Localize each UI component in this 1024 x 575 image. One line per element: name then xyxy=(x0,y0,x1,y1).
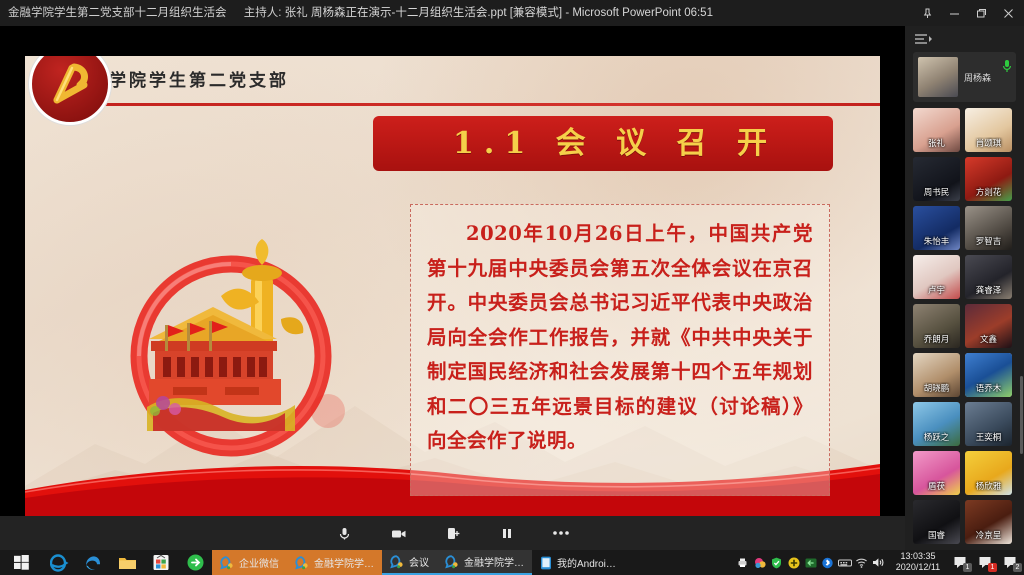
tiananmen-artwork xyxy=(103,221,393,471)
minimize-icon[interactable] xyxy=(941,0,968,26)
hammer-sickle-emblem-icon xyxy=(29,56,111,125)
participant-row: 周书民方剡花 xyxy=(905,157,1024,206)
taskbar-task-label: 金融学院学… xyxy=(314,555,374,570)
phone-icon xyxy=(540,556,552,570)
slide-header: 金融学院学生第二党支部 xyxy=(39,66,866,100)
participant-row: 朱怡丰罗智吉 xyxy=(905,206,1024,255)
file-explorer-icon[interactable] xyxy=(110,550,144,575)
microphone-active-icon xyxy=(1003,60,1011,73)
internet-explorer-icon[interactable] xyxy=(42,550,76,575)
taskbar-task[interactable]: 我的Androi… xyxy=(532,550,624,575)
share-screen-icon[interactable] xyxy=(440,522,466,544)
participant-row: 卢宇龚睿泽 xyxy=(905,255,1024,304)
windows-taskbar: 企业微信金融学院学…会议金融学院学…我的Androi… 13:03:35 202… xyxy=(0,550,1024,575)
participant-name: 胡晓鹏 xyxy=(913,382,960,394)
taskbar-task[interactable]: 金融学院学… xyxy=(287,550,382,575)
microphone-icon[interactable] xyxy=(332,522,358,544)
camera-icon[interactable] xyxy=(386,522,412,544)
wecom-icon xyxy=(220,556,234,570)
participant-card[interactable]: 冷京呈 xyxy=(965,500,1012,544)
participant-row: 国睿冷京呈 xyxy=(905,500,1024,549)
taskbar-task[interactable]: 会议 xyxy=(382,550,437,575)
participant-card[interactable]: 肖颂琪 xyxy=(965,108,1012,152)
participant-row: 杨跃之王奕桐 xyxy=(905,402,1024,451)
participant-card[interactable]: 王奕桐 xyxy=(965,402,1012,446)
taskbar-task-label: 金融学院学… xyxy=(464,554,524,569)
participant-card[interactable]: 文鑫 xyxy=(965,304,1012,348)
participant-name: 乔朗月 xyxy=(913,333,960,345)
participants-sidebar: 周杨森 张礼肖颂琪周书民方剡花朱怡丰罗智吉卢宇龚睿泽乔朗月文鑫胡晓鹏语乔木杨跃之… xyxy=(905,26,1024,550)
slide-body-textbox: 2020年10月26日上午，中国共产党第十九届中央委员会第五次全体会议在京召开。… xyxy=(410,204,830,496)
participant-name: 张礼 xyxy=(913,137,960,149)
participant-name: 文鑫 xyxy=(965,333,1012,345)
window-controls xyxy=(914,0,1022,26)
header-divider xyxy=(39,103,880,106)
browser-green-icon[interactable] xyxy=(178,550,212,575)
participant-card[interactable]: 朱怡丰 xyxy=(913,206,960,250)
participant-card[interactable]: 方剡花 xyxy=(965,157,1012,201)
participant-name: 国睿 xyxy=(913,529,960,541)
taskbar-task-label: 会议 xyxy=(409,554,429,569)
shield-green-icon[interactable] xyxy=(768,550,785,575)
title-bar: 金融学院学生第二党支部十二月组织生活会 主持人: 张礼 周杨森正在演示-十二月组… xyxy=(0,0,1024,26)
participant-name: 方剡花 xyxy=(965,186,1012,198)
participant-name: 冷京呈 xyxy=(965,529,1012,541)
avatar xyxy=(918,57,958,97)
clock-time: 13:03:35 xyxy=(887,551,949,562)
participant-name: 王奕桐 xyxy=(965,431,1012,443)
participant-name: 周书民 xyxy=(913,186,960,198)
slide-title-banner: 1.1 会 议 召 开 xyxy=(373,116,833,171)
participant-card[interactable]: 周书民 xyxy=(913,157,960,201)
pin-icon[interactable] xyxy=(914,0,941,26)
taskbar-task-list[interactable]: 企业微信金融学院学…会议金融学院学…我的Androi… xyxy=(212,550,624,575)
participant-card[interactable]: 杨欣雅 xyxy=(965,451,1012,495)
notification-badge: 1 xyxy=(963,563,972,572)
taskbar-task-label: 我的Androi… xyxy=(557,555,616,570)
notification-chat-icon[interactable]: 1 xyxy=(974,550,999,575)
more-icon[interactable] xyxy=(548,522,574,544)
bluetooth-icon[interactable] xyxy=(819,550,836,575)
meeting-toolbar xyxy=(0,516,905,550)
meeting-screen-share-window: 金融学院学生第二党支部十二月组织生活会 主持人: 张礼 周杨森正在演示-十二月组… xyxy=(0,0,1024,575)
taskbar-task-label: 企业微信 xyxy=(239,555,279,570)
pause-icon[interactable] xyxy=(494,522,520,544)
wecom-icon xyxy=(390,555,404,569)
restore-icon[interactable] xyxy=(968,0,995,26)
meeting-info: 金融学院学生第二党支部十二月组织生活会 主持人: 张礼 xyxy=(8,0,308,26)
slide-body-text: 2020年10月26日上午，中国共产党第十九届中央委员会第五次全体会议在京召开。… xyxy=(427,217,813,459)
notification-badge: 2 xyxy=(1013,563,1022,572)
sidebar-toolbar xyxy=(905,26,1024,52)
participant-row: 张礼肖颂琪 xyxy=(905,108,1024,157)
participant-roster[interactable]: 周杨森 张礼肖颂琪周书民方剡花朱怡丰罗智吉卢宇龚睿泽乔朗月文鑫胡晓鹏语乔木杨跃之… xyxy=(905,52,1024,550)
participant-name: 杨欣雅 xyxy=(965,480,1012,492)
participant-card[interactable]: 龚睿泽 xyxy=(965,255,1012,299)
active-speaker-card[interactable]: 周杨森 xyxy=(913,52,1016,102)
participant-name: 朱怡丰 xyxy=(913,235,960,247)
volume-icon[interactable] xyxy=(870,550,887,575)
participant-card[interactable]: 张礼 xyxy=(913,108,960,152)
participant-name: 杨跃之 xyxy=(913,431,960,443)
taskbar-task[interactable]: 企业微信 xyxy=(212,550,287,575)
system-tray: 13:03:35 2020/12/11 112 xyxy=(734,550,1024,575)
plus-yellow-icon[interactable] xyxy=(785,550,802,575)
participant-card[interactable]: 乔朗月 xyxy=(913,304,960,348)
participant-card[interactable]: 国睿 xyxy=(913,500,960,544)
wecom-icon xyxy=(445,555,459,569)
notification-badge: 1 xyxy=(988,563,997,572)
green-app-icon[interactable] xyxy=(802,550,819,575)
participant-card[interactable]: 杨跃之 xyxy=(913,402,960,446)
meeting-name: 金融学院学生第二党支部十二月组织生活会 xyxy=(8,7,227,19)
layout-menu-icon[interactable] xyxy=(914,32,932,46)
taskbar-task[interactable]: 金融学院学… xyxy=(437,550,532,575)
participant-card[interactable]: 胡晓鹏 xyxy=(913,353,960,397)
meeting-host: 主持人: 张礼 xyxy=(244,7,308,19)
start-button[interactable] xyxy=(0,550,42,575)
participant-card[interactable]: 罗智吉 xyxy=(965,206,1012,250)
wifi-icon[interactable] xyxy=(853,550,870,575)
edge-icon[interactable] xyxy=(76,550,110,575)
participant-name: 语乔木 xyxy=(965,382,1012,394)
colorful-app-icon[interactable] xyxy=(751,550,768,575)
participant-row: 盾茯杨欣雅 xyxy=(905,451,1024,500)
participant-name: 盾茯 xyxy=(913,480,960,492)
wecom-icon xyxy=(295,556,309,570)
notification-chat-icon[interactable]: 1 xyxy=(949,550,974,575)
notification-icons[interactable]: 112 xyxy=(949,550,1024,575)
participant-card[interactable]: 盾茯 xyxy=(913,451,960,495)
input-method-icon[interactable] xyxy=(836,550,853,575)
printer-icon[interactable] xyxy=(734,550,751,575)
participant-name: 龚睿泽 xyxy=(965,284,1012,296)
participant-card[interactable]: 语乔木 xyxy=(965,353,1012,397)
shared-screen-stage: 金融学院学生第二党支部 1.1 会 议 召 开 xyxy=(0,26,905,550)
slide-title: 1.1 会 议 召 开 xyxy=(453,116,777,171)
participant-row: 乔朗月文鑫 xyxy=(905,304,1024,353)
notification-chat-icon[interactable]: 2 xyxy=(999,550,1024,575)
participant-name: 卢宇 xyxy=(913,284,960,296)
close-icon[interactable] xyxy=(995,0,1022,26)
participant-row: 胡晓鹏语乔木 xyxy=(905,353,1024,402)
microsoft-store-icon[interactable] xyxy=(144,550,178,575)
participant-name: 罗智吉 xyxy=(965,235,1012,247)
clock-date: 2020/12/11 xyxy=(887,562,949,573)
participant-grid[interactable]: 张礼肖颂琪周书民方剡花朱怡丰罗智吉卢宇龚睿泽乔朗月文鑫胡晓鹏语乔木杨跃之王奕桐盾… xyxy=(905,108,1024,549)
active-speaker-name: 周杨森 xyxy=(964,71,991,84)
participant-card[interactable]: 卢宇 xyxy=(913,255,960,299)
clock[interactable]: 13:03:35 2020/12/11 xyxy=(887,550,949,575)
participant-name: 肖颂琪 xyxy=(965,137,1012,149)
sidebar-scrollbar[interactable] xyxy=(1020,376,1023,454)
powerpoint-slide: 金融学院学生第二党支部 1.1 会 议 召 开 xyxy=(25,56,880,516)
